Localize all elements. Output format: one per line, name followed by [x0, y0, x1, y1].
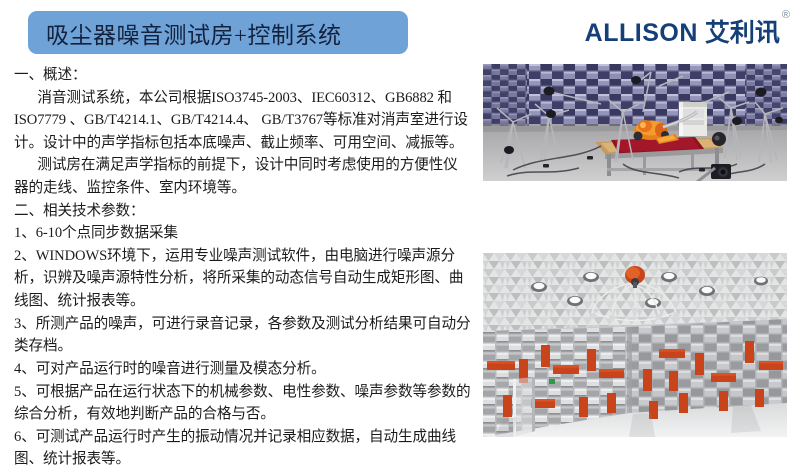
body-paragraph: 4、可对产品运行时的噪音进行测量及模态分析。	[14, 358, 472, 381]
registered-trademark-icon: ®	[782, 10, 790, 21]
section-heading: 二、相关技术参数：	[14, 200, 472, 223]
photo-top-graphic	[483, 64, 787, 181]
body-paragraph: 消音测试系统，本公司根据ISO3745-2003、IEC60312、GB6882…	[14, 87, 472, 155]
body-text-column: 一、概述： 消音测试系统，本公司根据ISO3745-2003、IEC60312、…	[14, 64, 472, 471]
company-logo: ALLISON 艾利讯 ®	[585, 12, 790, 46]
body-paragraph: 6、可测试产品运行时产生的振动情况并记录相应数据，自动生成曲线图、统计报表等。	[14, 426, 472, 471]
photo-anechoic-chamber-interior	[483, 253, 787, 437]
body-paragraph: 3、所测产品的噪声，可进行录音记录，各参数及测试分析结果可自动分类存档。	[14, 313, 472, 358]
slide-header: 吸尘器噪音测试房+控制系统 ALLISON 艾利讯 ®	[0, 0, 800, 60]
photo-bottom-graphic	[483, 253, 787, 437]
slide-title-box: 吸尘器噪音测试房+控制系统	[28, 11, 408, 54]
logo-cjk-text: 艾利讯	[705, 21, 780, 46]
section-heading: 一、概述：	[14, 64, 472, 87]
logo-latin-text: ALLISON	[585, 21, 698, 46]
body-paragraph: 测试房在满足声学指标的前提下，设计中同时考虑使用的方便性仪器的走线、监控条件、室…	[14, 154, 472, 199]
body-paragraph: 5、可根据产品在运行状态下的机械参数、电性参数、噪声参数等参数的综合分析，有效地…	[14, 381, 472, 426]
page-title: 吸尘器噪音测试房+控制系统	[46, 16, 341, 50]
status-indicator	[549, 379, 555, 384]
body-paragraph: 1、6-10个点同步数据采集	[14, 222, 472, 245]
body-paragraph: 2、WINDOWS环境下，运用专业噪声测试软件，由电脑进行噪声源分析，识辨及噪声…	[14, 245, 472, 313]
photo-anechoic-chamber-with-vacuum	[483, 64, 787, 181]
